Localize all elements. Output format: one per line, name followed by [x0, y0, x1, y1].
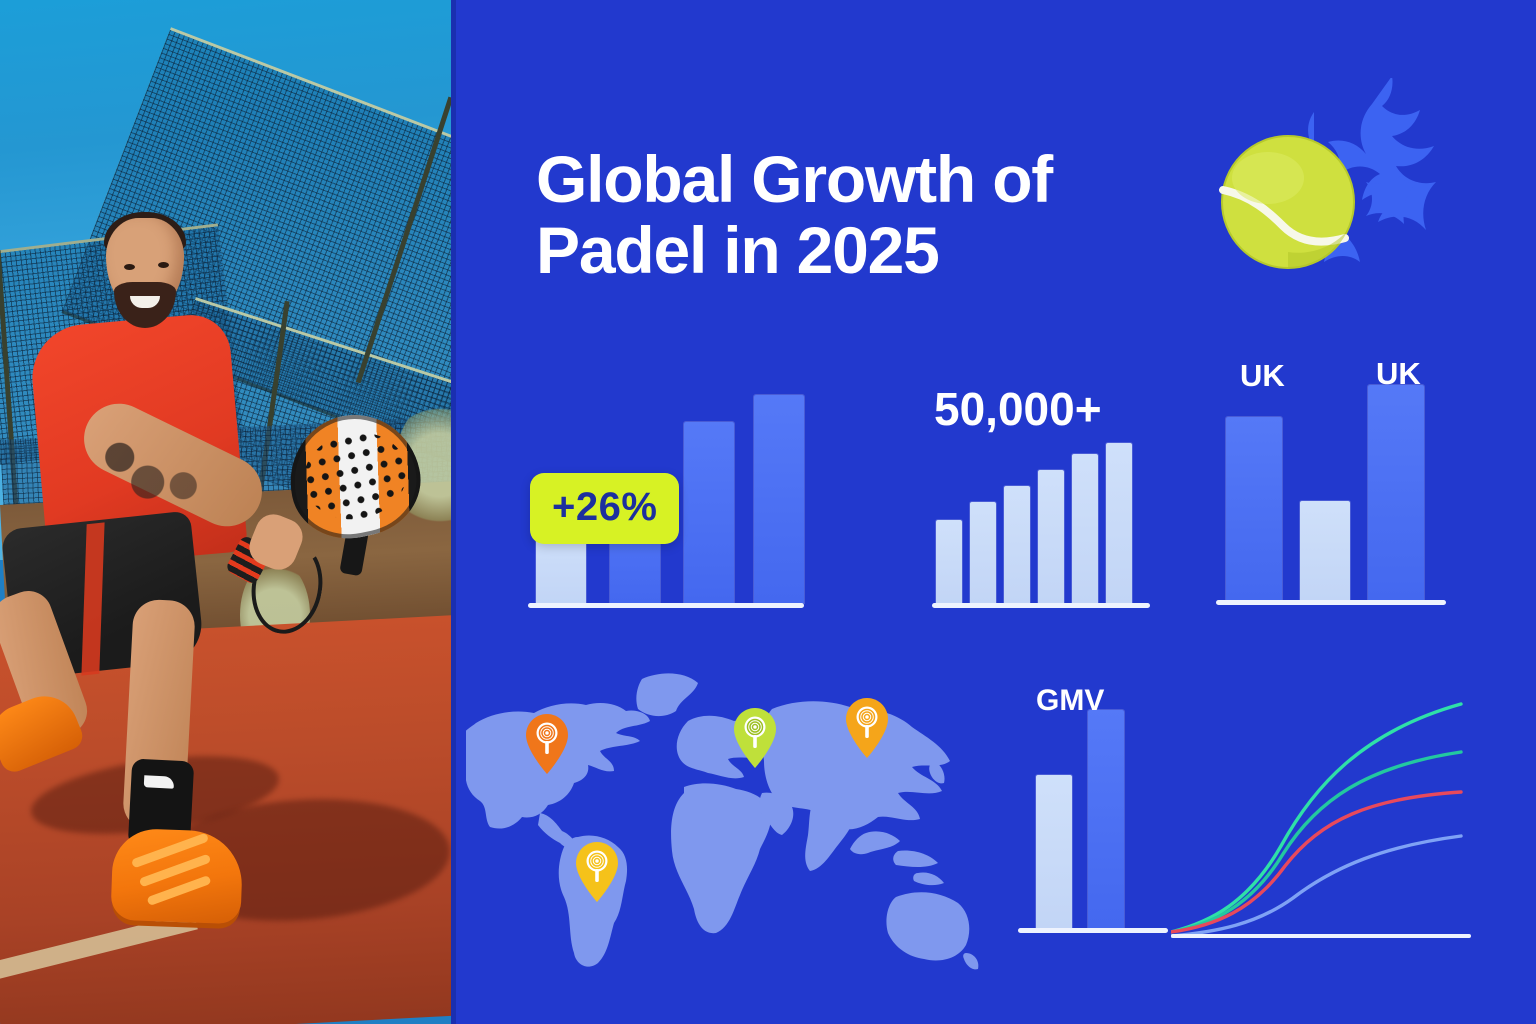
uk-bars-group — [1216, 385, 1446, 600]
headline-line-1: Global Growth of — [536, 142, 1052, 216]
gmv-bars-group — [1018, 710, 1168, 928]
map-pin-europe[interactable] — [732, 707, 778, 769]
uk-bar-2 — [1300, 501, 1350, 600]
players-bar-5 — [1072, 454, 1098, 603]
players-bar-chart — [932, 448, 1150, 608]
growth-bar-4 — [754, 395, 804, 603]
growth-bar-3 — [684, 422, 734, 603]
players-bars-group — [932, 443, 1150, 603]
gmv-axis-line — [1018, 928, 1168, 933]
padel-player-photo: BaboiaT — [0, 0, 456, 1024]
headline-line-2: Padel in 2025 — [536, 215, 1176, 286]
players-count-label: 50,000+ — [934, 382, 1102, 436]
players-bar-3 — [1004, 486, 1030, 603]
flaming-tennis-ball-icon — [1196, 78, 1436, 298]
sock-logo-icon — [144, 775, 175, 789]
gmv-bar-chart — [1018, 715, 1168, 933]
gmv-label: GMV — [1036, 684, 1104, 718]
world-map — [466, 665, 986, 995]
uk-bar-chart — [1216, 390, 1446, 605]
map-pin-asia[interactable] — [844, 697, 890, 759]
uk-bar-1 — [1226, 417, 1282, 600]
growth-axis-line — [528, 603, 804, 608]
players-bar-4 — [1038, 470, 1064, 603]
players-axis-line — [932, 603, 1150, 608]
adoption-line-chart — [1171, 670, 1471, 960]
map-pin-north-america[interactable] — [524, 713, 570, 775]
page-title: Global Growth of Padel in 2025 — [536, 144, 1176, 287]
uk-label-right: UK — [1376, 356, 1421, 392]
line-chart-axis — [1171, 934, 1471, 938]
player-eye-left — [124, 264, 135, 270]
player-eye-right — [158, 262, 169, 268]
gmv-bar-2 — [1088, 710, 1124, 928]
padel-racket — [278, 403, 432, 555]
players-bar-1 — [936, 520, 962, 603]
players-bar-2 — [970, 502, 996, 603]
uk-bar-3 — [1368, 385, 1424, 600]
uk-axis-line — [1216, 600, 1446, 605]
growth-percent-badge: +26% — [530, 473, 679, 544]
infographic-canvas: BaboiaT — [0, 0, 1536, 1024]
map-pin-south-america[interactable] — [574, 841, 620, 903]
curve-series-1 — [1171, 704, 1461, 932]
uk-label-left: UK — [1240, 358, 1285, 394]
players-bar-6 — [1106, 443, 1132, 603]
infographic-panel: Global Growth of Padel in 2025 — [456, 0, 1536, 1024]
gmv-bar-1 — [1036, 775, 1072, 928]
